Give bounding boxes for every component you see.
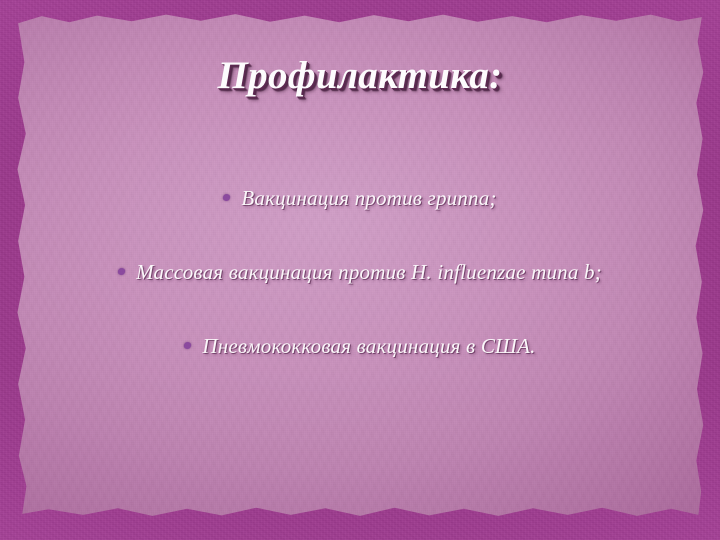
- list-item-label: Пневмококковая вакцинация в США.: [202, 334, 535, 359]
- list-item-label: Массовая вакцинация против H. influenzae…: [136, 260, 602, 285]
- list-item: Массовая вакцинация против H. influenzae…: [0, 260, 720, 285]
- diamond-bullet-icon: [117, 267, 126, 276]
- diamond-bullet-icon: [183, 341, 192, 350]
- slide-title: Профилактика:: [0, 53, 720, 98]
- list-item-label: Вакцинация против гриппа;: [241, 186, 496, 211]
- list-item: Пневмококковая вакцинация в США.: [0, 334, 720, 359]
- bullet-list: Вакцинация против гриппа; Массовая вакци…: [0, 186, 720, 408]
- presentation-slide: Профилактика: Вакцинация против гриппа; …: [0, 0, 720, 540]
- diamond-bullet-icon: [222, 193, 231, 202]
- list-item: Вакцинация против гриппа;: [0, 186, 720, 211]
- slide-content: Профилактика: Вакцинация против гриппа; …: [0, 0, 720, 540]
